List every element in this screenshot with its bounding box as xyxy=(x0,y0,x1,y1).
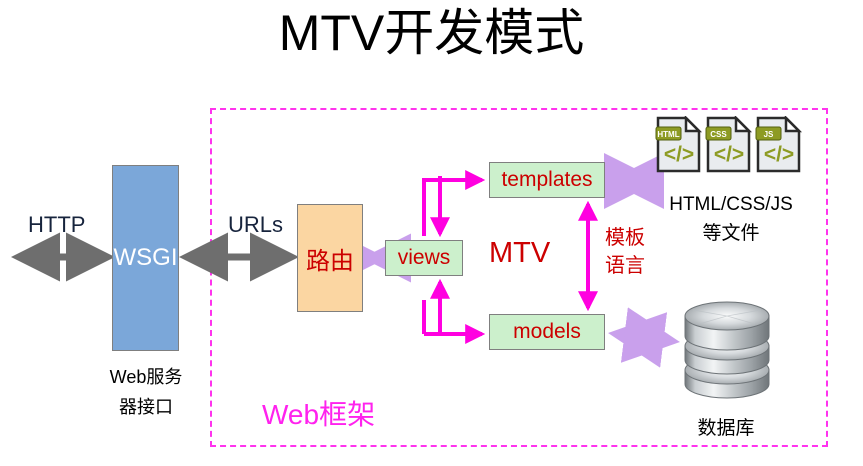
css-file-icon: CSS </> xyxy=(705,116,753,174)
files-caption-line2: 等文件 xyxy=(646,219,816,248)
template-language-label: 模板 语言 xyxy=(599,224,651,280)
template-language-line2: 语言 xyxy=(599,252,651,280)
js-file-icon-badge: JS xyxy=(764,130,774,139)
wsgi-caption-line1: Web服务 xyxy=(86,362,206,392)
files-caption: HTML/CSS/JS 等文件 xyxy=(646,190,816,248)
router-box-label: 路由 xyxy=(306,241,354,276)
http-label: HTTP xyxy=(28,212,85,238)
files-caption-line1: HTML/CSS/JS xyxy=(646,190,816,219)
mtv-label: MTV xyxy=(489,237,550,270)
css-file-icon-glyph: </> xyxy=(714,143,744,166)
templates-box[interactable]: templates xyxy=(489,162,605,198)
template-language-line1: 模板 xyxy=(599,224,651,252)
views-box-label: views xyxy=(398,246,451,270)
file-icons-group: HTML </> CSS </> JS </> xyxy=(655,116,807,178)
html-file-icon: HTML </> xyxy=(655,116,703,174)
router-box[interactable]: 路由 xyxy=(297,204,363,312)
wsgi-caption: Web服务 器接口 xyxy=(86,362,206,422)
html-file-icon-glyph: </> xyxy=(664,143,694,166)
js-file-icon: JS </> xyxy=(755,116,803,174)
views-box[interactable]: views xyxy=(385,240,463,276)
page-title: MTV开发模式 xyxy=(0,2,863,64)
models-box[interactable]: models xyxy=(489,314,605,350)
web-framework-label: Web框架 xyxy=(262,393,375,433)
html-file-icon-badge: HTML xyxy=(657,130,679,139)
js-file-icon-glyph: </> xyxy=(764,143,794,166)
models-box-label: models xyxy=(513,320,581,344)
wsgi-box-label: WSGI xyxy=(114,244,178,272)
database-caption: 数据库 xyxy=(666,413,786,440)
wsgi-caption-line2: 器接口 xyxy=(86,392,206,422)
wsgi-box[interactable]: WSGI xyxy=(112,165,179,351)
css-file-icon-badge: CSS xyxy=(710,130,727,139)
diagram-canvas: MTV开发模式 xyxy=(0,0,863,466)
templates-box-label: templates xyxy=(501,168,592,192)
urls-label: URLs xyxy=(228,212,283,238)
database-icon xyxy=(679,298,775,404)
